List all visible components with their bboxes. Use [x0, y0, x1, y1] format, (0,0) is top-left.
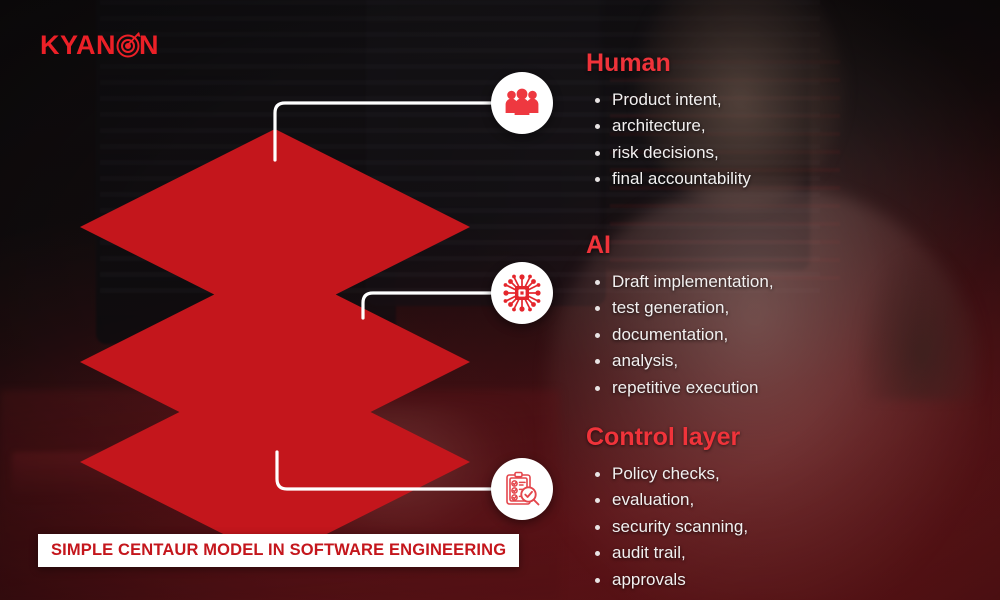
caption-text: SIMPLE CENTAUR MODEL IN SOFTWARE ENGINEE…	[51, 541, 506, 559]
section-human: Human Product intent, architecture, risk…	[586, 50, 986, 194]
brand-name-part1: KYAN	[40, 32, 116, 59]
caption-banner: SIMPLE CENTAUR MODEL IN SOFTWARE ENGINEE…	[38, 534, 519, 567]
list-item: security scanning,	[586, 515, 986, 539]
diagram-layer-bottom	[80, 364, 470, 560]
section-control-layer: Control layer Policy checks, evaluation,…	[586, 424, 986, 595]
list-item: Draft implementation,	[586, 270, 986, 294]
section-list-control-layer: Policy checks, evaluation, security scan…	[586, 462, 986, 593]
bullseye-target-icon	[115, 33, 140, 58]
badge-ai[interactable]	[491, 262, 553, 324]
section-list-human: Product intent, architecture, risk decis…	[586, 88, 986, 192]
people-group-icon	[505, 88, 539, 118]
infographic-canvas: KYAN N	[0, 0, 1000, 600]
list-item: approvals	[586, 568, 986, 592]
list-item: Product intent,	[586, 88, 986, 112]
badge-human[interactable]	[491, 72, 553, 134]
section-title-human: Human	[586, 50, 986, 78]
arrow-icon	[124, 31, 142, 49]
list-item: documentation,	[586, 323, 986, 347]
section-list-ai: Draft implementation, test generation, d…	[586, 270, 986, 401]
ai-chip-network-icon	[502, 273, 542, 313]
section-title-ai: AI	[586, 232, 986, 260]
list-item: repetitive execution	[586, 376, 986, 400]
section-title-control-layer: Control layer	[586, 424, 986, 452]
section-ai: AI Draft implementation, test generation…	[586, 232, 986, 403]
list-item: test generation,	[586, 296, 986, 320]
list-item: Policy checks,	[586, 462, 986, 486]
list-item: audit trail,	[586, 541, 986, 565]
clipboard-checklist-magnifier-icon	[503, 470, 541, 508]
layer-stack-diagram	[0, 0, 520, 600]
list-item: analysis,	[586, 349, 986, 373]
list-item: risk decisions,	[586, 141, 986, 165]
badge-control[interactable]	[491, 458, 553, 520]
list-item: architecture,	[586, 114, 986, 138]
list-item: evaluation,	[586, 488, 986, 512]
brand-name-part2: N	[139, 32, 159, 59]
brand-logo: KYAN N	[40, 32, 159, 59]
list-item: final accountability	[586, 167, 986, 191]
